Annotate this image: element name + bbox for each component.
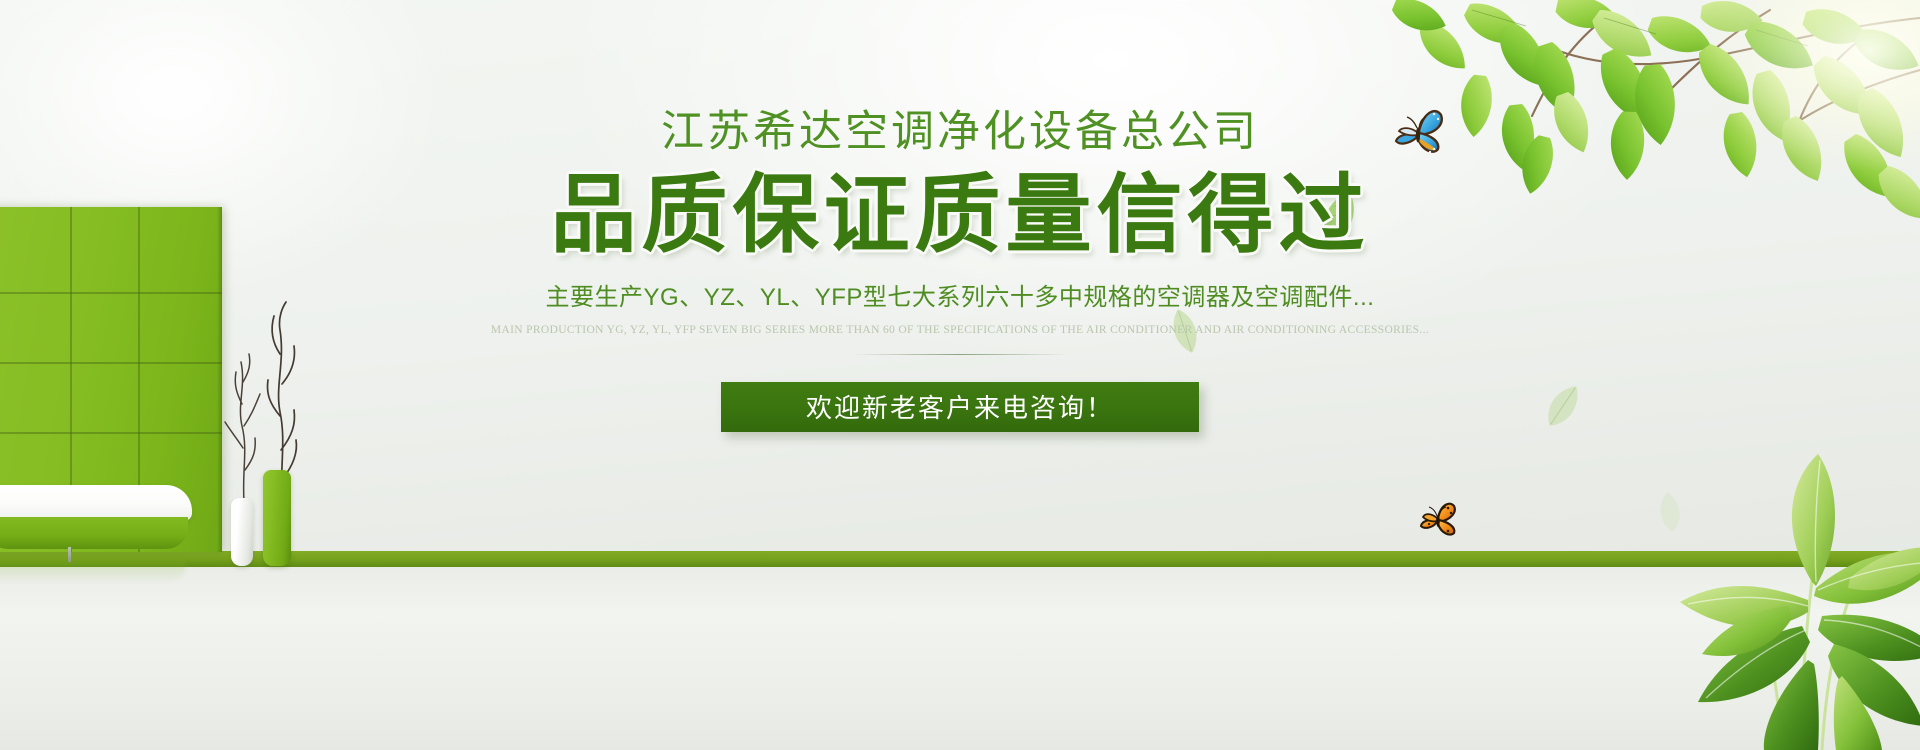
hero-banner: 江苏希达空调净化设备总公司 品质保证质量信得过 主要生产YG、YZ、YL、YFP… bbox=[0, 0, 1920, 750]
contact-cta-button[interactable]: 欢迎新老客户来电咨询！ bbox=[721, 382, 1199, 432]
banner-copy: 江苏希达空调净化设备总公司 品质保证质量信得过 主要生产YG、YZ、YL、YFP… bbox=[0, 0, 1920, 750]
slogan-headline: 品质保证质量信得过 bbox=[551, 170, 1370, 260]
divider-rule bbox=[852, 354, 1068, 355]
subtitle-chinese: 主要生产YG、YZ、YL、YFP型七大系列六十多中规格的空调器及空调配件... bbox=[546, 282, 1375, 313]
company-name: 江苏希达空调净化设备总公司 bbox=[661, 108, 1259, 156]
subtitle-english: MAIN PRODUCTION YG, YZ, YL, YFP SEVEN BI… bbox=[491, 323, 1429, 338]
